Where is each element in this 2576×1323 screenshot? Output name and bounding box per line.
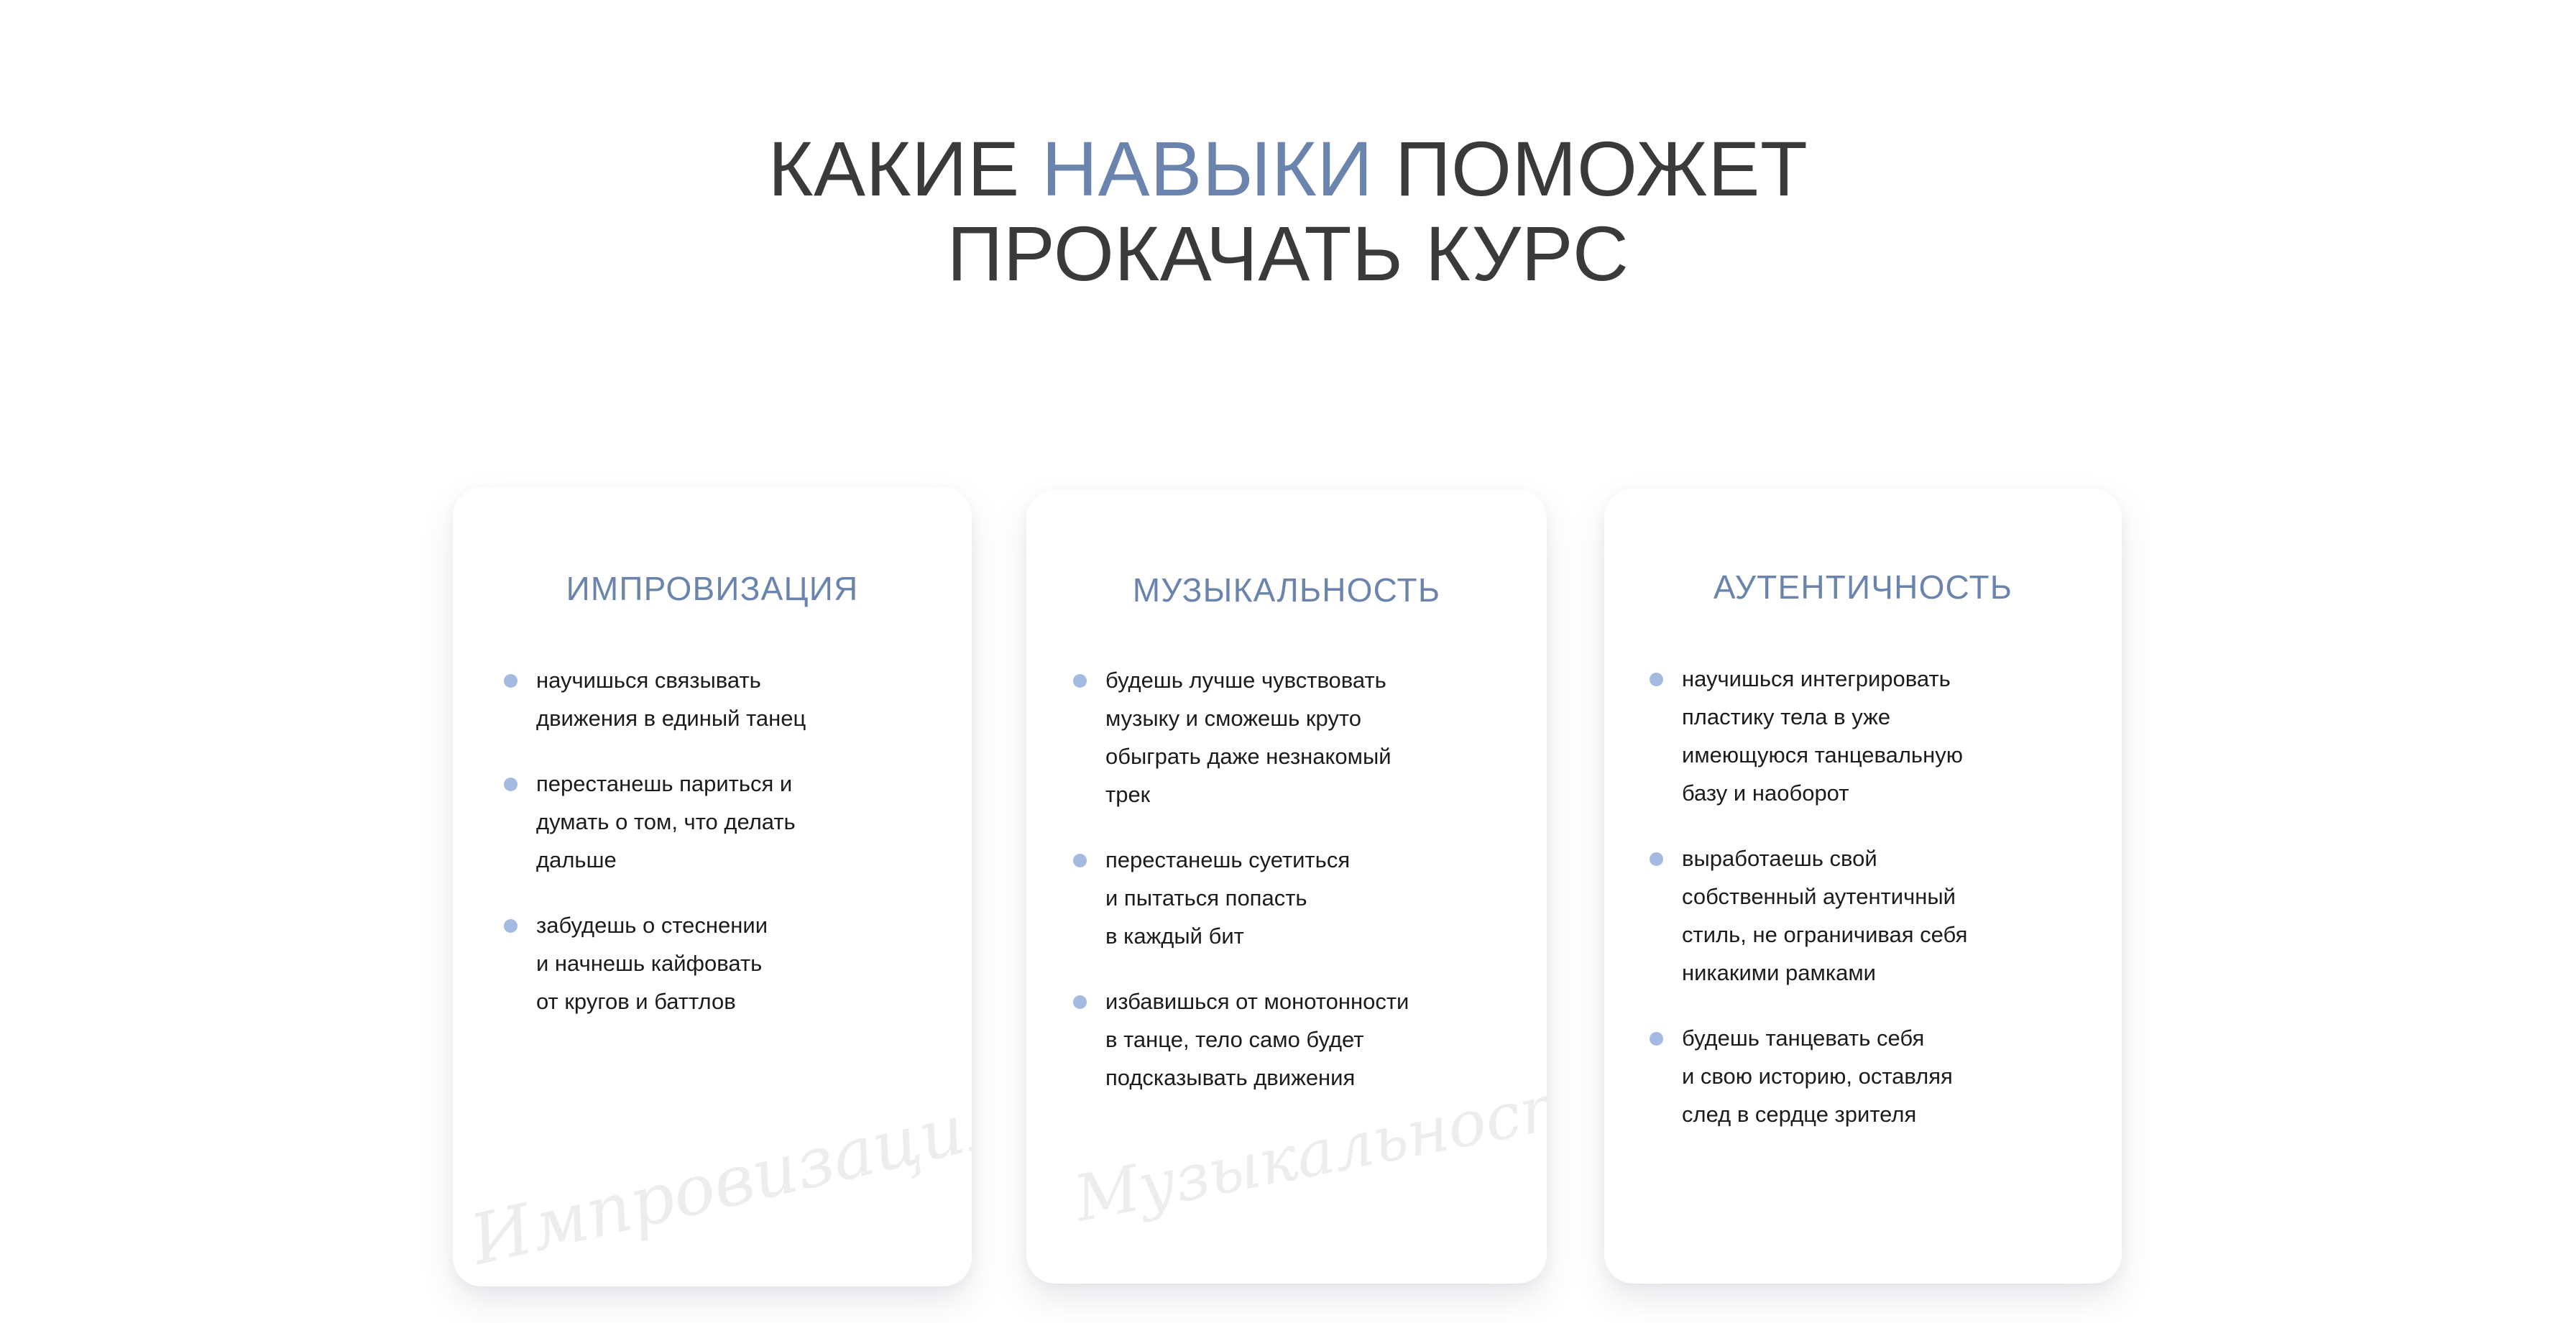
bullet-dot-icon <box>504 674 517 688</box>
list-item: забудешь о стеснении и начнешь кайфовать… <box>502 906 933 1020</box>
list-item-text: будешь лучше чувствовать музыку и сможеш… <box>1105 661 1511 813</box>
title-text-after: ПОМОЖЕТ <box>1373 125 1808 212</box>
slide-root: КАКИЕ НАВЫКИ ПОМОЖЕТ ПРОКАЧАТЬ КУРС ИМПР… <box>0 0 2576 1323</box>
card-heading: АУТЕНТИЧНОСТЬ <box>1604 568 2122 607</box>
card-heading: ИМПРОВИЗАЦИЯ <box>453 569 972 608</box>
list-item: выработаешь свой собственный аутентичный… <box>1647 839 2093 992</box>
bullet-dot-icon <box>504 919 517 933</box>
list-item-text: перестанешь суетиться и пытаться попасть… <box>1105 841 1511 955</box>
list-item: перестанешь суетиться и пытаться попасть… <box>1071 841 1511 955</box>
list-item: будешь танцевать себя и свою историю, ос… <box>1647 1019 2093 1133</box>
list-item-text: перестанешь париться и думать о том, что… <box>536 765 933 879</box>
card-bullet-list: научишься интегрировать пластику тела в … <box>1647 660 2093 1133</box>
bullet-dot-icon <box>1073 854 1087 867</box>
card-heading: МУЗЫКАЛЬНОСТЬ <box>1026 571 1547 609</box>
list-item-text: будешь танцевать себя и свою историю, ос… <box>1682 1019 2093 1133</box>
list-item: перестанешь париться и думать о том, что… <box>502 765 933 879</box>
bullet-dot-icon <box>1073 674 1087 688</box>
list-item-text: научишься связывать движения в единый та… <box>536 661 933 737</box>
card-watermark-script: Импровизация <box>464 1079 972 1281</box>
list-item-text: выработаешь свой собственный аутентичный… <box>1682 839 2093 992</box>
card-bullet-list: будешь лучше чувствовать музыку и сможеш… <box>1071 661 1511 1097</box>
bullet-dot-icon <box>504 778 517 791</box>
list-item: избавишься от монотонности в танце, тело… <box>1071 982 1511 1097</box>
list-item: будешь лучше чувствовать музыку и сможеш… <box>1071 661 1511 813</box>
title-text-before: КАКИЕ <box>768 125 1042 212</box>
bullet-dot-icon <box>1650 673 1663 686</box>
skill-card-musicality: МУЗЫКАЛЬНОСТЬ будешь лучше чувствовать м… <box>1026 490 1547 1283</box>
bullet-dot-icon <box>1073 995 1087 1009</box>
list-item-text: научишься интегрировать пластику тела в … <box>1682 660 2093 812</box>
skill-card-improvisation: ИМПРОВИЗАЦИЯ научишься связывать движени… <box>453 487 972 1286</box>
page-title-line-1: КАКИЕ НАВЫКИ ПОМОЖЕТ <box>0 126 2576 211</box>
skill-card-authenticity: АУТЕНТИЧНОСТЬ научишься интегрировать пл… <box>1604 489 2122 1283</box>
bullet-dot-icon <box>1650 852 1663 866</box>
list-item: научишься интегрировать пластику тела в … <box>1647 660 2093 812</box>
list-item-text: избавишься от монотонности в танце, тело… <box>1105 982 1511 1097</box>
title-text-accent: НАВЫКИ <box>1041 125 1373 212</box>
page-title: КАКИЕ НАВЫКИ ПОМОЖЕТ ПРОКАЧАТЬ КУРС <box>0 126 2576 296</box>
page-title-line-2: ПРОКАЧАТЬ КУРС <box>0 211 2576 296</box>
card-bullet-list: научишься связывать движения в единый та… <box>502 661 933 1020</box>
list-item: научишься связывать движения в единый та… <box>502 661 933 737</box>
list-item-text: забудешь о стеснении и начнешь кайфовать… <box>536 906 933 1020</box>
bullet-dot-icon <box>1650 1032 1663 1046</box>
